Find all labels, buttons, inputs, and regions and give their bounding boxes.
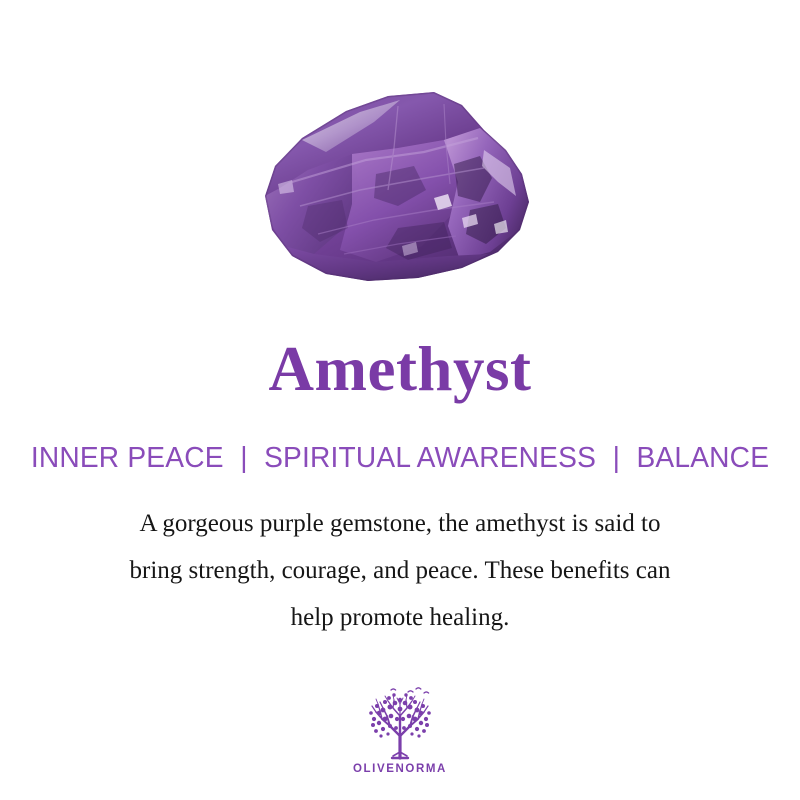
description-text: A gorgeous purple gemstone, the amethyst… [60,500,740,641]
keyword-separator: | [604,442,629,475]
keyword-balance: BALANCE [636,442,769,474]
brand-logo: OLIVENORMA [0,686,800,775]
bird-icon [391,688,429,693]
description-line: help promote healing. [60,594,740,641]
tree-of-life-icon [361,686,439,760]
brand-wordmark: OLIVENORMA [353,763,447,775]
amethyst-crystal-photo [248,78,548,293]
keyword-inner-peace: INNER PEACE [31,442,224,474]
description-line: A gorgeous purple gemstone, the amethyst… [60,500,740,547]
keyword-list: INNER PEACE | SPIRITUAL AWARENESS | BALA… [12,442,788,475]
amethyst-info-card: Amethyst INNER PEACE | SPIRITUAL AWARENE… [0,0,800,800]
description-line: bring strength, courage, and peace. Thes… [60,547,740,594]
amethyst-crystal-illustration [248,78,548,293]
page-title: Amethyst [0,336,800,402]
keyword-spiritual-awareness: SPIRITUAL AWARENESS [264,442,596,474]
keyword-separator: | [231,442,256,475]
